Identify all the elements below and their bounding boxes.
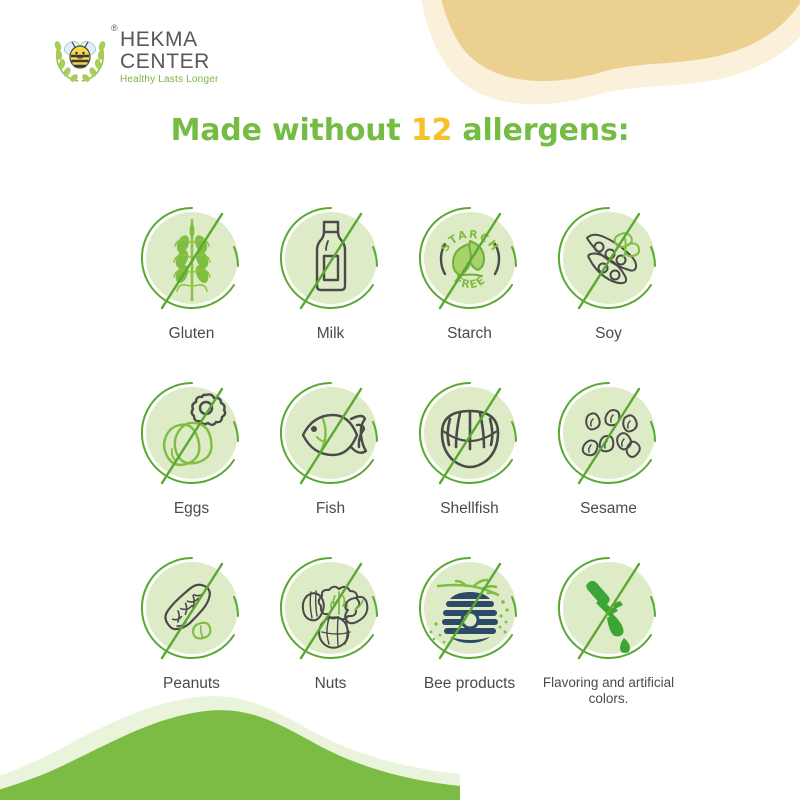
allergen-label: Sesame — [580, 500, 637, 519]
allergen-label: Fish — [316, 500, 345, 519]
allergen-item-sesame[interactable]: Sesame — [539, 371, 678, 546]
bee-laurel-wreath-logo-icon — [52, 26, 108, 86]
allergen-item-shellfish[interactable]: Shellfish — [400, 371, 539, 546]
decorative-blob-top-right — [420, 0, 800, 130]
allergen-item-nuts[interactable]: Nuts — [261, 546, 400, 721]
allergen-label: Shellfish — [440, 500, 499, 519]
allergen-label: Flavoring and artificial colors. — [539, 675, 678, 708]
allergen-item-milk[interactable]: Milk — [261, 196, 400, 371]
allergen-label: Soy — [595, 325, 622, 344]
brand-name-line1: HEKMA — [112, 29, 219, 50]
allergen-badge — [267, 546, 395, 674]
allergen-label: Eggs — [174, 500, 209, 519]
allergen-label: Nuts — [315, 675, 347, 694]
registered-mark: ® — [111, 24, 118, 33]
brand-name-line2: CENTER — [112, 51, 219, 72]
brand-wordmark: ® HEKMA CENTER Healthy Lasts Longer — [112, 27, 219, 85]
allergen-item-flavoring[interactable]: Flavoring and artificial colors. — [539, 546, 678, 721]
title-suffix: allergens: — [452, 113, 629, 148]
allergen-label: Gluten — [169, 325, 215, 344]
poster-canvas: ® HEKMA CENTER Healthy Lasts Longer Made… — [0, 0, 800, 800]
allergen-label: Bee products — [424, 675, 515, 694]
title-prefix: Made without — [171, 113, 411, 148]
allergen-badge — [267, 196, 395, 324]
allergen-badge — [406, 371, 534, 499]
allergen-item-peanuts[interactable]: Peanuts — [122, 546, 261, 721]
page-title: Made without 12 allergens: — [0, 113, 800, 148]
allergen-badge — [545, 196, 673, 324]
allergen-item-fish[interactable]: Fish — [261, 371, 400, 546]
allergen-item-bee-products[interactable]: Bee products — [400, 546, 539, 721]
allergen-label: Milk — [317, 325, 345, 344]
brand-logo[interactable]: ® HEKMA CENTER Healthy Lasts Longer — [52, 26, 219, 86]
title-count: 12 — [411, 113, 452, 148]
allergen-item-soy[interactable]: Soy — [539, 196, 678, 371]
allergen-grid: Gluten Milk — [122, 196, 678, 721]
allergen-label: Starch — [447, 325, 492, 344]
allergen-item-gluten[interactable]: Gluten — [122, 196, 261, 371]
allergen-item-starch[interactable]: STARCH FREE Starch — [400, 196, 539, 371]
allergen-badge — [545, 546, 673, 674]
allergen-badge: STARCH FREE — [406, 196, 534, 324]
allergen-badge — [128, 371, 256, 499]
brand-tagline: Healthy Lasts Longer — [112, 75, 219, 85]
allergen-badge — [545, 371, 673, 499]
allergen-item-eggs[interactable]: Eggs — [122, 371, 261, 546]
allergen-badge — [267, 371, 395, 499]
allergen-badge — [128, 546, 256, 674]
allergen-label: Peanuts — [163, 675, 220, 694]
allergen-badge — [406, 546, 534, 674]
allergen-badge — [128, 196, 256, 324]
